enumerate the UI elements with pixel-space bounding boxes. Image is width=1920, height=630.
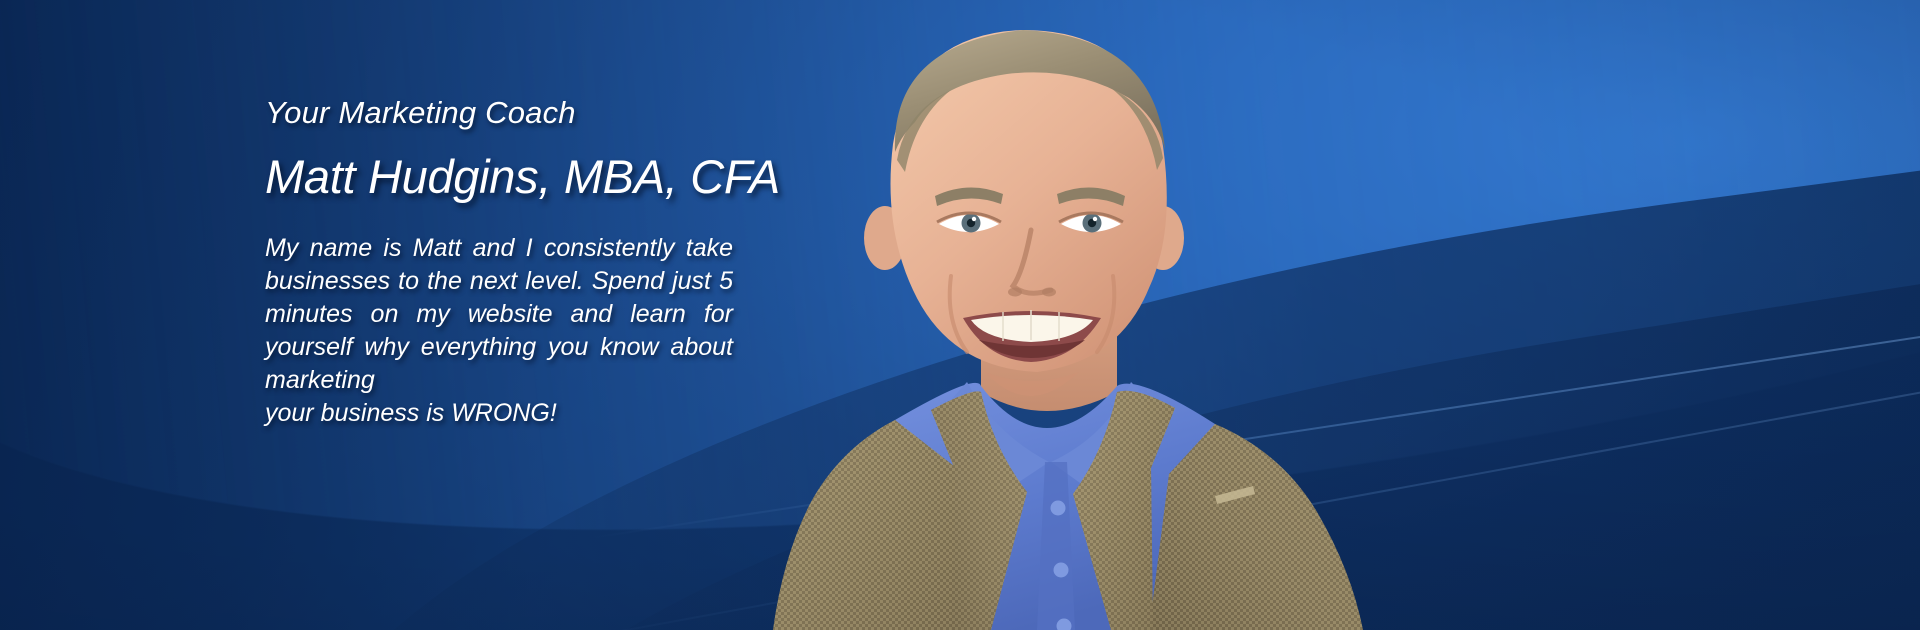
hero-headline: Matt Hudgins, MBA, CFA: [265, 152, 735, 202]
hero-description-lastline: your business is WRONG!: [265, 397, 733, 430]
hero-eyebrow: Your Marketing Coach: [265, 96, 735, 130]
hero-banner: Your Marketing Coach Matt Hudgins, MBA, …: [0, 0, 1920, 630]
hero-description: My name is Matt and I consistently take …: [265, 232, 733, 430]
hero-description-body: My name is Matt and I consistently take …: [265, 234, 733, 394]
hero-copy-block: Your Marketing Coach Matt Hudgins, MBA, …: [265, 96, 735, 430]
